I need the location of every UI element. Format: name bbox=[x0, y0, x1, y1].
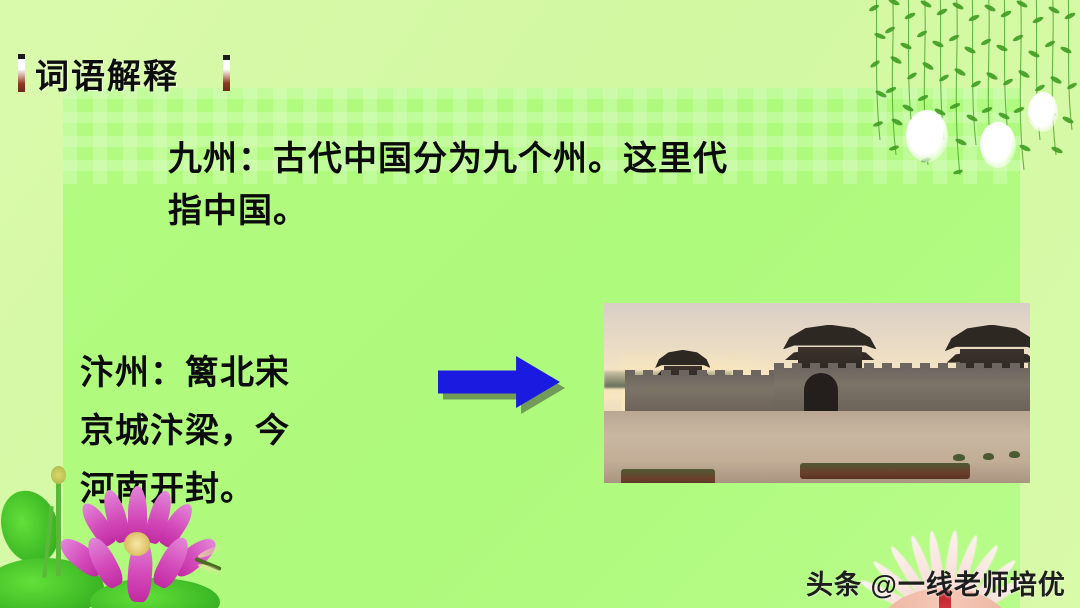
definition-bianzhou-line3: 河南开封。 bbox=[80, 461, 370, 519]
page-title: 词语解释 bbox=[35, 49, 179, 98]
photo-city-wall-right bbox=[902, 368, 1030, 415]
right-arrow-icon bbox=[438, 356, 560, 408]
definition-bianzhou-line1: 汴州：篱北宋 bbox=[80, 345, 370, 403]
lantern-icon bbox=[906, 110, 948, 162]
lantern-icon bbox=[1028, 92, 1058, 132]
definition-jiuzhou: 九州：古代中国分为九个州。这里代 指中国。 bbox=[168, 134, 868, 238]
definition-bianzhou-line2: 京城汴梁，今 bbox=[80, 403, 370, 461]
definition-jiuzhou-line2: 指中国。 bbox=[168, 186, 868, 238]
photo-shrub bbox=[1009, 451, 1020, 458]
title-tick-right-icon bbox=[223, 55, 230, 91]
slide-canvas: 词语解释 九州：古代中国分为九个州。这里代 指中国。 汴州：篱北宋 京城汴梁，今… bbox=[0, 0, 1080, 608]
photo-tower-center-roof bbox=[783, 325, 877, 350]
photo-city-wall-left bbox=[625, 375, 778, 415]
photo-hedge-row bbox=[621, 469, 715, 483]
photo-hedge-row bbox=[800, 463, 970, 479]
right-arrow-body bbox=[438, 356, 560, 408]
section-title-row: 词语解释 bbox=[18, 50, 230, 96]
title-tick-left-icon bbox=[18, 54, 25, 92]
lantern-icon bbox=[980, 122, 1016, 168]
photo-gate-archway bbox=[804, 373, 838, 415]
watermark-text: 头条 @一线老师培优 bbox=[806, 563, 1066, 602]
definition-bianzhou: 汴州：篱北宋 京城汴梁，今 河南开封。 bbox=[80, 345, 370, 519]
photo-tower-right-roof bbox=[945, 325, 1030, 351]
definition-jiuzhou-line1: 九州：古代中国分为九个州。这里代 bbox=[168, 134, 868, 186]
photo-tower-left-roof bbox=[655, 350, 710, 368]
photo-shrub bbox=[983, 453, 994, 460]
photo-city-wall-center bbox=[774, 368, 906, 415]
ancient-city-gate-photo bbox=[604, 303, 1030, 483]
